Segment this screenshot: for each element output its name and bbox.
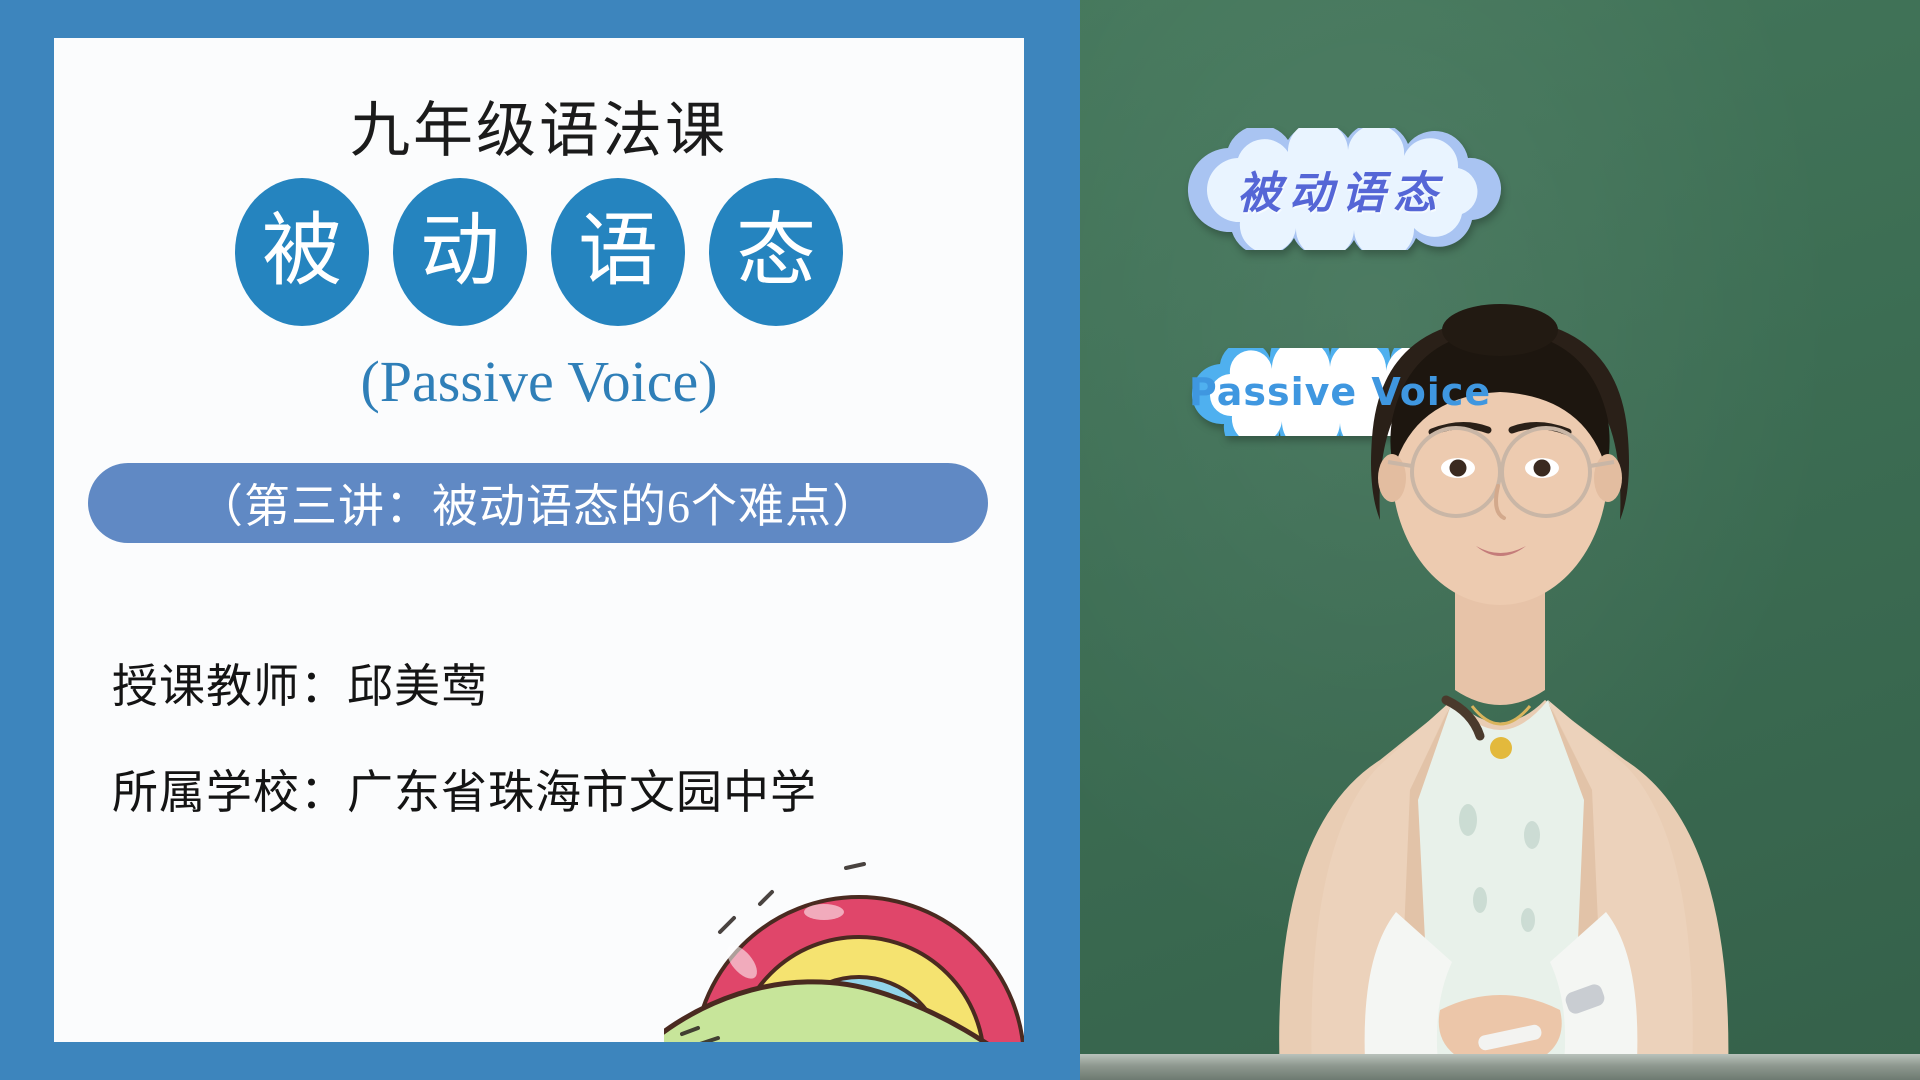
teacher-info-line: 授课教师：邱美莺	[112, 650, 488, 716]
board-badge-english-label: Passive Voice	[1189, 370, 1491, 414]
presenter-figure	[1080, 0, 1920, 1080]
screen: 九年级语法课 被 动 语 态 (Passive Voice) （第三讲：被动语态…	[0, 0, 1920, 1080]
char-circle-yu: 语	[551, 178, 685, 326]
slide-pane: 九年级语法课 被 动 语 态 (Passive Voice) （第三讲：被动语态…	[0, 0, 1080, 1080]
board-badge-chinese-label: 被动语态	[1237, 157, 1445, 221]
char-circle-tai: 态	[709, 178, 843, 326]
lesson-subtitle-pill: （第三讲：被动语态的6个难点）	[88, 463, 988, 543]
char-circle-row: 被 动 语 态	[54, 178, 1024, 326]
char-circle-bei: 被	[235, 178, 369, 326]
board-ledge	[1080, 1054, 1920, 1080]
rainbow-hill-icon	[664, 812, 1024, 1042]
char-circle-dong: 动	[393, 178, 527, 326]
classroom-video-pane: 被动语态 Passive Voice	[1080, 0, 1920, 1080]
subtitle-english: (Passive Voice)	[54, 348, 1024, 415]
slide-card: 九年级语法课 被 动 语 态 (Passive Voice) （第三讲：被动语态…	[54, 38, 1024, 1042]
page-title: 九年级语法课	[54, 82, 1024, 169]
school-info-line: 所属学校：广东省珠海市文园中学	[112, 756, 817, 822]
